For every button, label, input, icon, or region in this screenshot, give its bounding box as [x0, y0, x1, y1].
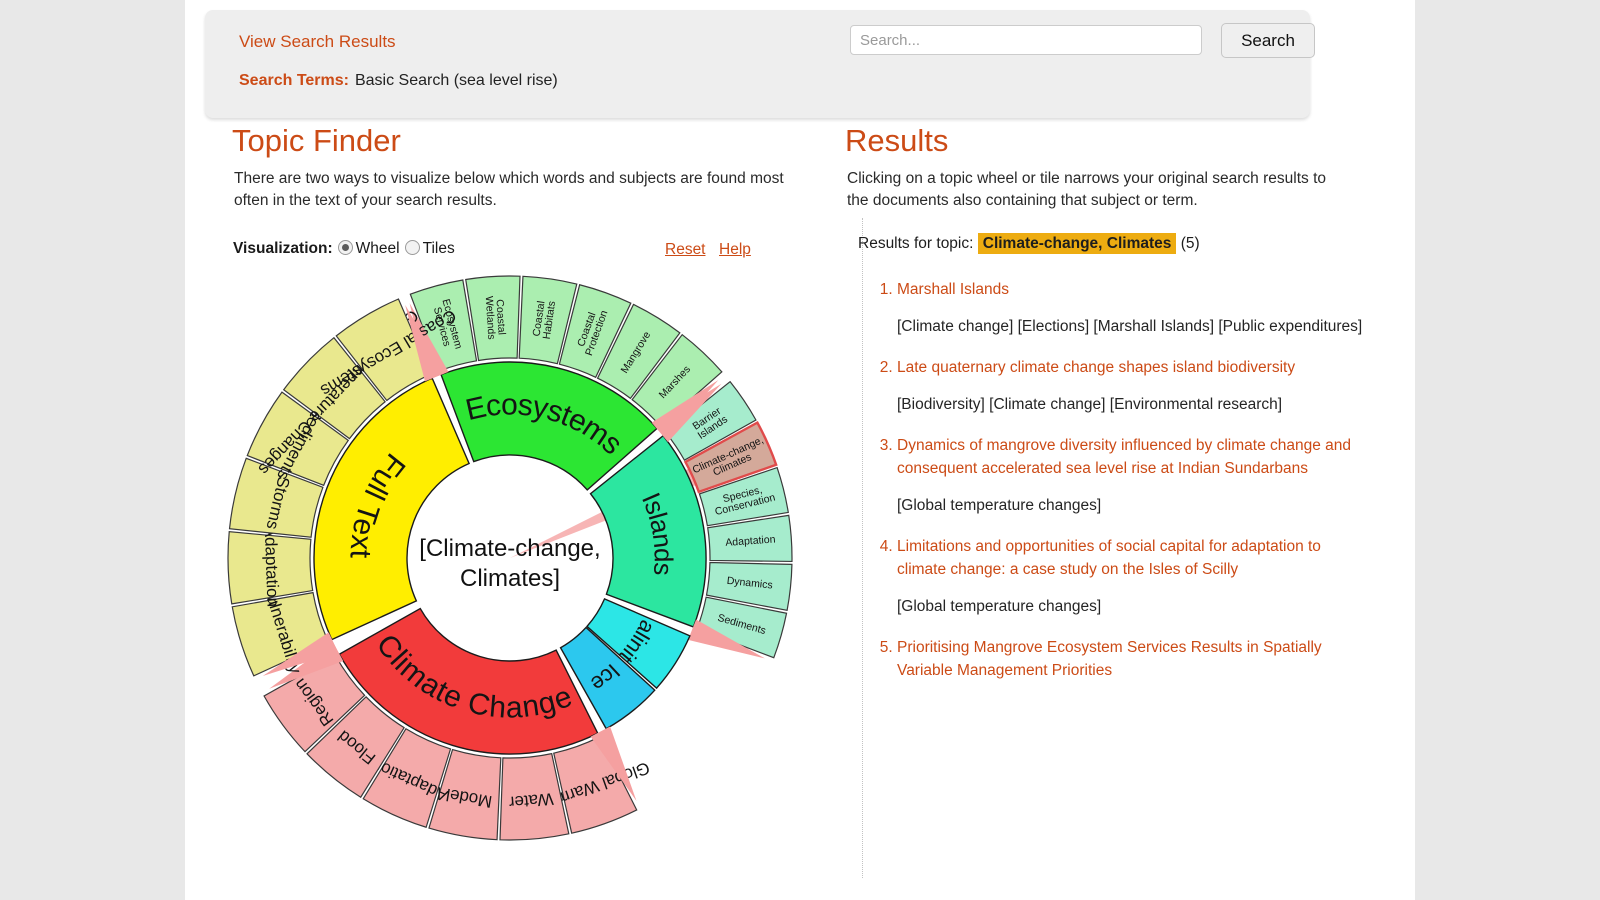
page-content: View Search Results Search Terms:Basic S… — [185, 0, 1415, 900]
topic-finder-blurb: There are two ways to visualize below wh… — [234, 168, 814, 212]
wheel-center-label-2: Climates] — [460, 565, 560, 592]
results-topic-prefix: Results for topic: — [858, 235, 973, 252]
result-title-link[interactable]: Prioritising Mangrove Ecosystem Services… — [897, 639, 1322, 679]
result-title-link[interactable]: Marshall Islands — [897, 281, 1009, 298]
search-terms-row: Search Terms:Basic Search (sea level ris… — [239, 72, 558, 90]
results-topic-line: Results for topic: Climate-change, Clima… — [858, 235, 1200, 253]
result-subject-tags: [Global temperature changes] — [897, 494, 1367, 517]
wheel-subsector-label: Adaptation — [261, 525, 283, 607]
search-terms-value: Basic Search (sea level rise) — [355, 72, 558, 89]
result-title-link[interactable]: Late quaternary climate change shapes is… — [897, 359, 1295, 376]
search-terms-label: Search Terms: — [239, 72, 349, 89]
results-list: Marshall Islands[Climate change] [Electi… — [865, 278, 1367, 778]
topic-wheel[interactable]: EcosystemsEcosystemServicesCoastalWetlan… — [205, 250, 845, 890]
wheel-subsector-label: Water — [508, 789, 555, 812]
list-item: Late quaternary climate change shapes is… — [897, 356, 1367, 416]
search-button[interactable]: Search — [1221, 23, 1315, 58]
topic-finder-title: Topic Finder — [232, 122, 847, 160]
results-topic-count: (5) — [1181, 235, 1200, 252]
result-title-link[interactable]: Dynamics of mangrove diversity influence… — [897, 437, 1351, 477]
list-item: Marshall Islands[Climate change] [Electi… — [897, 278, 1367, 338]
search-input[interactable] — [850, 25, 1202, 55]
search-panel: View Search Results Search Terms:Basic S… — [205, 10, 1310, 118]
list-item: Prioritising Mangrove Ecosystem Services… — [897, 636, 1367, 682]
column-divider — [862, 218, 863, 878]
list-item: Dynamics of mangrove diversity influence… — [897, 434, 1367, 517]
result-subject-tags: [Biodiversity] [Climate change] [Environ… — [897, 393, 1367, 416]
wheel-center-label: [Climate-change, — [419, 535, 600, 562]
status-badge[interactable]: Climate-change, Climates — [978, 233, 1177, 254]
list-item: Limitations and opportunities of social … — [897, 535, 1367, 618]
results-blurb: Clicking on a topic wheel or tile narrow… — [847, 168, 1337, 212]
topic-wheel-svg[interactable]: EcosystemsEcosystemServicesCoastalWetlan… — [205, 250, 845, 890]
view-search-results-link[interactable]: View Search Results — [239, 32, 396, 52]
results-title: Results — [845, 122, 1345, 160]
topic-finder-column: Topic Finder There are two ways to visua… — [232, 122, 847, 212]
results-column: Results Clicking on a topic wheel or til… — [845, 122, 1345, 212]
result-subject-tags: [Global temperature changes] — [897, 595, 1367, 618]
result-title-link[interactable]: Limitations and opportunities of social … — [897, 538, 1321, 578]
wheel-subsector-label: CoastalWetlands — [483, 295, 508, 340]
result-subject-tags: [Climate change] [Elections] [Marshall I… — [897, 315, 1367, 338]
